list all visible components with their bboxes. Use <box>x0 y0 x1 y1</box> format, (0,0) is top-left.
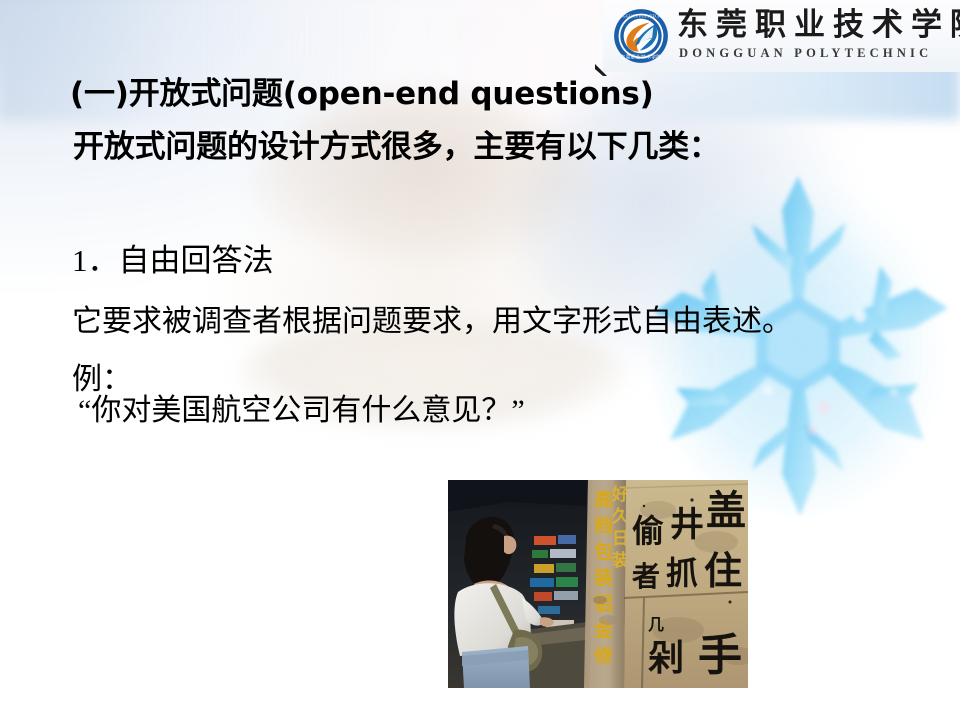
slide-canvas: DONGGUAN POLYTECHNIC 东莞职业技术学院 东莞职业技术学院 D… <box>0 0 960 720</box>
item-1-description: 它要求被调查者根据问题要求，用文字形式自由表述。 <box>72 296 792 340</box>
logo-name-en: DONGGUAN POLYTECHNIC <box>679 46 960 61</box>
svg-text:盖: 盖 <box>706 488 746 534</box>
svg-text:手: 手 <box>698 630 742 681</box>
svg-text:剁: 剁 <box>648 638 684 679</box>
svg-text:抓: 抓 <box>666 554 698 592</box>
svg-text:包: 包 <box>594 540 613 563</box>
svg-text:档: 档 <box>594 514 613 537</box>
example-quote: “你对美国航空公司有什么意见？” <box>78 385 525 429</box>
item-1-heading: 1．自由回答法 <box>72 235 274 280</box>
institution-logo: DONGGUAN POLYTECHNIC 东莞职业技术学院 东莞职业技术学院 D… <box>603 0 960 72</box>
svg-text:装: 装 <box>593 566 613 589</box>
dongguan-polytechnic-emblem-icon: DONGGUAN POLYTECHNIC 东莞职业技术学院 <box>613 8 669 64</box>
subtitle: 开放式问题的设计方式很多，主要有以下几类： <box>73 121 720 166</box>
street-photo-woman-looking-at-wall-graffiti: 高 档 包 装 铝 金 修 好 久 日 装 <box>448 480 748 688</box>
svg-text:几: 几 <box>648 615 664 634</box>
page-title: (一)开放式问题(open-end questions) <box>70 68 654 113</box>
svg-text:DONGGUAN POLYTECHNIC: DONGGUAN POLYTECHNIC <box>614 15 669 19</box>
svg-text:偷: 偷 <box>632 512 664 550</box>
svg-text:井: 井 <box>670 505 704 545</box>
svg-text:住: 住 <box>704 549 742 593</box>
svg-text:修: 修 <box>593 644 614 667</box>
svg-text:者: 者 <box>632 560 660 593</box>
logo-name-cn: 东莞职业技术学院 <box>677 6 960 44</box>
svg-text:高: 高 <box>594 488 613 511</box>
